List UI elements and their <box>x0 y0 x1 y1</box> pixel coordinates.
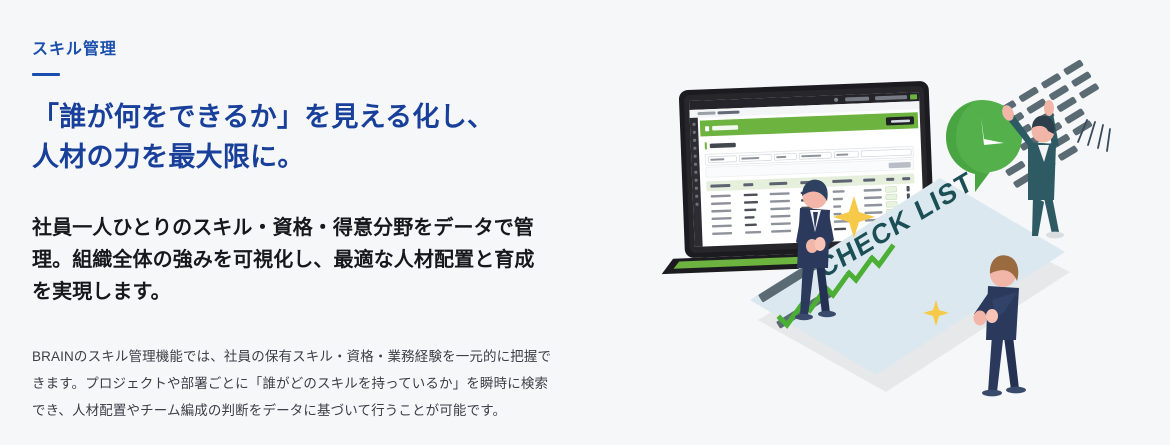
section-lead-paragraph: 社員一人ひとりのスキル・資格・得意分野をデータで管理。組織全体の強みを可視化し、… <box>32 212 542 309</box>
section-body-paragraph: BRAINのスキル管理機能では、社員の保有スキル・資格・業務経験を一元的に把握で… <box>32 343 552 424</box>
section-headline: 「誰が何をできるか」を見える化し、 人材の力を最大限に。 <box>32 98 572 178</box>
feature-illustration: CHECK LIST <box>640 0 1170 445</box>
eyebrow-underline-divider <box>32 73 60 76</box>
skill-management-feature-section: スキル管理 「誰が何をできるか」を見える化し、 人材の力を最大限に。 社員一人ひ… <box>0 0 1170 445</box>
headline-line-1: 「誰が何をできるか」を見える化し、 <box>32 98 572 138</box>
headline-line-2: 人材の力を最大限に。 <box>32 138 572 178</box>
section-eyebrow-label: スキル管理 <box>32 40 572 61</box>
feature-text-column: スキル管理 「誰が何をできるか」を見える化し、 人材の力を最大限に。 社員一人ひ… <box>32 40 572 424</box>
